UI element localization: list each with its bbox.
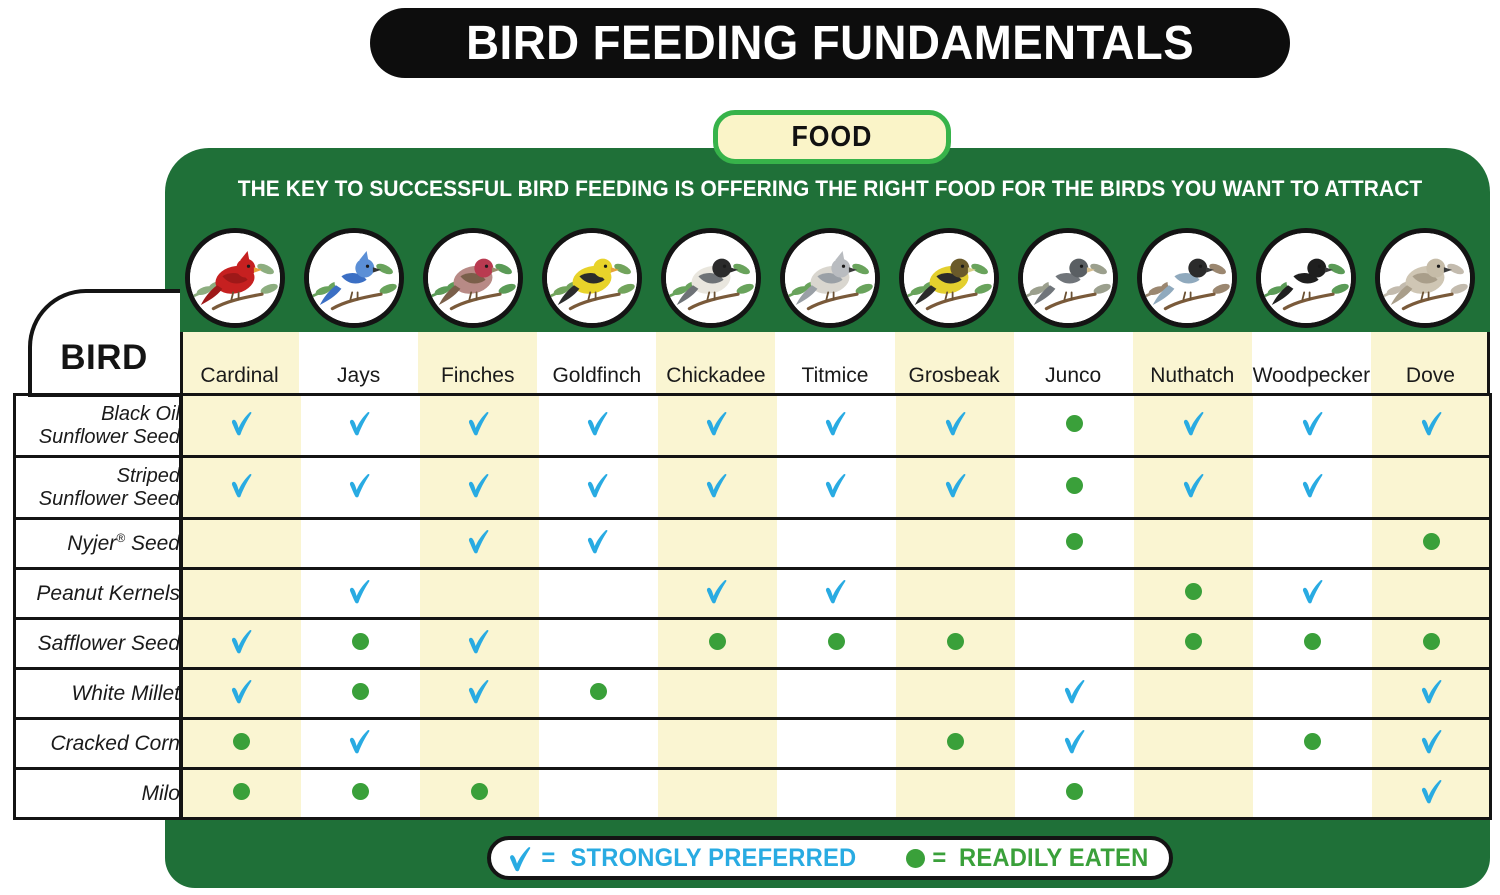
column-header-grosbeak: Grosbeak bbox=[895, 332, 1014, 394]
legend-equals-dot: = bbox=[932, 844, 946, 873]
cell-chickadee-check bbox=[658, 457, 777, 519]
cell-junco-empty bbox=[1015, 619, 1134, 669]
dot-icon bbox=[1066, 783, 1083, 800]
check-icon bbox=[585, 471, 611, 499]
dot-icon bbox=[828, 633, 845, 650]
cell-jays-check bbox=[301, 719, 420, 769]
grosbeak-bird-icon bbox=[899, 228, 999, 328]
food-badge-label: FOOD bbox=[792, 121, 873, 154]
dot-icon bbox=[1066, 533, 1083, 550]
dot-icon bbox=[906, 849, 925, 868]
cell-junco-dot bbox=[1015, 395, 1134, 457]
dot-icon bbox=[947, 633, 964, 650]
feeding-matrix: Black OilSunflower SeedStripedSunflower … bbox=[13, 393, 1490, 820]
cell-finches-check bbox=[420, 395, 539, 457]
dove-bird-icon bbox=[1375, 228, 1475, 328]
cell-cardinal-empty bbox=[182, 519, 301, 569]
cell-jays-check bbox=[301, 395, 420, 457]
cell-goldfinch-check bbox=[539, 519, 658, 569]
table-row: Safflower Seed bbox=[15, 619, 1492, 669]
cell-dove-check bbox=[1372, 719, 1491, 769]
cardinal-bird-icon bbox=[185, 228, 285, 328]
check-icon bbox=[1181, 409, 1207, 437]
dot-icon bbox=[471, 783, 488, 800]
cell-cardinal-dot bbox=[182, 719, 301, 769]
column-header-cardinal: Cardinal bbox=[180, 332, 299, 394]
dot-icon bbox=[1185, 633, 1202, 650]
check-icon bbox=[1419, 409, 1445, 437]
dot-icon bbox=[1423, 633, 1440, 650]
row-label-peanut-kernels: Peanut Kernels bbox=[15, 569, 182, 619]
table-row: White Millet bbox=[15, 669, 1492, 719]
check-icon bbox=[704, 577, 730, 605]
cell-nuthatch-empty bbox=[1134, 719, 1253, 769]
dot-icon bbox=[1066, 477, 1083, 494]
cell-goldfinch-empty bbox=[539, 619, 658, 669]
column-header-label: Chickadee bbox=[666, 364, 765, 388]
cell-junco-dot bbox=[1015, 769, 1134, 819]
cell-finches-check bbox=[420, 619, 539, 669]
check-icon bbox=[1419, 727, 1445, 755]
cell-goldfinch-empty bbox=[539, 769, 658, 819]
cell-woodpecker-check bbox=[1253, 569, 1372, 619]
check-icon bbox=[347, 471, 373, 499]
cell-titmice-dot bbox=[777, 619, 896, 669]
check-icon bbox=[704, 471, 730, 499]
check-icon bbox=[1300, 409, 1326, 437]
cell-nuthatch-dot bbox=[1134, 569, 1253, 619]
check-icon bbox=[823, 471, 849, 499]
cell-titmice-check bbox=[777, 395, 896, 457]
dot-icon bbox=[352, 683, 369, 700]
column-header-label: Finches bbox=[441, 364, 515, 388]
cell-finches-check bbox=[420, 519, 539, 569]
cell-chickadee-check bbox=[658, 395, 777, 457]
cell-junco-dot bbox=[1015, 457, 1134, 519]
cell-grosbeak-empty bbox=[896, 769, 1015, 819]
cell-chickadee-check bbox=[658, 569, 777, 619]
table-row: Peanut Kernels bbox=[15, 569, 1492, 619]
bird-axis-underline bbox=[28, 393, 180, 397]
cell-cardinal-check bbox=[182, 395, 301, 457]
column-header-titmice: Titmice bbox=[775, 332, 894, 394]
column-header-junco: Junco bbox=[1014, 332, 1133, 394]
check-icon bbox=[229, 627, 255, 655]
cell-chickadee-empty bbox=[658, 519, 777, 569]
check-icon bbox=[1300, 471, 1326, 499]
cell-woodpecker-empty bbox=[1253, 519, 1372, 569]
check-icon bbox=[466, 677, 492, 705]
cell-chickadee-empty bbox=[658, 719, 777, 769]
cell-dove-check bbox=[1372, 769, 1491, 819]
cell-dove-check bbox=[1372, 669, 1491, 719]
dot-icon bbox=[233, 733, 250, 750]
check-icon bbox=[1419, 777, 1445, 805]
dot-icon bbox=[947, 733, 964, 750]
cell-grosbeak-empty bbox=[896, 569, 1015, 619]
cell-jays-dot bbox=[301, 619, 420, 669]
check-icon bbox=[507, 844, 534, 873]
cell-woodpecker-check bbox=[1253, 457, 1372, 519]
cell-dove-dot bbox=[1372, 619, 1491, 669]
table-row: Black OilSunflower Seed bbox=[15, 395, 1492, 457]
check-icon bbox=[466, 627, 492, 655]
row-label-milo: Milo bbox=[15, 769, 182, 819]
row-label-white-millet: White Millet bbox=[15, 669, 182, 719]
cell-jays-dot bbox=[301, 769, 420, 819]
check-icon bbox=[585, 527, 611, 555]
dot-icon bbox=[352, 633, 369, 650]
check-icon bbox=[347, 577, 373, 605]
check-icon bbox=[943, 409, 969, 437]
cell-goldfinch-empty bbox=[539, 719, 658, 769]
cell-titmice-check bbox=[777, 569, 896, 619]
cell-finches-check bbox=[420, 669, 539, 719]
check-icon bbox=[823, 577, 849, 605]
cell-goldfinch-dot bbox=[539, 669, 658, 719]
cell-grosbeak-check bbox=[896, 395, 1015, 457]
table-row: Milo bbox=[15, 769, 1492, 819]
legend-label-preferred: STRONGLY PREFERRED bbox=[570, 844, 856, 873]
check-icon bbox=[1062, 677, 1088, 705]
column-header-jays: Jays bbox=[299, 332, 418, 394]
check-icon bbox=[943, 471, 969, 499]
dot-icon bbox=[709, 633, 726, 650]
check-icon bbox=[229, 471, 255, 499]
cell-cardinal-check bbox=[182, 457, 301, 519]
cell-woodpecker-check bbox=[1253, 395, 1372, 457]
check-icon bbox=[347, 727, 373, 755]
cell-jays-empty bbox=[301, 519, 420, 569]
cell-dove-empty bbox=[1372, 457, 1491, 519]
check-icon bbox=[585, 409, 611, 437]
dot-icon bbox=[1066, 415, 1083, 432]
cell-goldfinch-check bbox=[539, 457, 658, 519]
cell-cardinal-check bbox=[182, 669, 301, 719]
check-icon bbox=[704, 409, 730, 437]
row-label-safflower-seed: Safflower Seed bbox=[15, 619, 182, 669]
check-icon bbox=[347, 409, 373, 437]
food-badge: FOOD bbox=[713, 110, 951, 164]
titmouse-bird-icon bbox=[780, 228, 880, 328]
junco-bird-icon bbox=[1018, 228, 1118, 328]
legend-item-preferred: = STRONGLY PREFERRED bbox=[507, 844, 864, 873]
bird-axis-box bbox=[28, 289, 180, 397]
cell-jays-check bbox=[301, 569, 420, 619]
nuthatch-bird-icon bbox=[1137, 228, 1237, 328]
cell-woodpecker-empty bbox=[1253, 669, 1372, 719]
subtitle-text: THE KEY TO SUCCESSFUL BIRD FEEDING IS OF… bbox=[221, 176, 1439, 202]
row-label-cracked-corn: Cracked Corn bbox=[15, 719, 182, 769]
dot-icon bbox=[1304, 633, 1321, 650]
cell-junco-check bbox=[1015, 669, 1134, 719]
legend-label-readily-eaten: READILY EATEN bbox=[959, 844, 1148, 873]
table-row: StripedSunflower Seed bbox=[15, 457, 1492, 519]
cell-junco-empty bbox=[1015, 569, 1134, 619]
column-header-label: Goldfinch bbox=[552, 364, 641, 388]
cell-jays-dot bbox=[301, 669, 420, 719]
column-header-dove: Dove bbox=[1371, 332, 1490, 394]
row-label-striped-sunflower-seed: StripedSunflower Seed bbox=[15, 457, 182, 519]
cell-dove-dot bbox=[1372, 519, 1491, 569]
woodpecker-bird-icon bbox=[1256, 228, 1356, 328]
cell-grosbeak-check bbox=[896, 457, 1015, 519]
check-icon bbox=[466, 471, 492, 499]
cell-goldfinch-empty bbox=[539, 569, 658, 619]
column-header-label: Jays bbox=[337, 364, 380, 388]
cell-cardinal-check bbox=[182, 619, 301, 669]
cell-goldfinch-check bbox=[539, 395, 658, 457]
column-header-strip: CardinalJaysFinchesGoldfinchChickadeeTit… bbox=[13, 332, 1490, 394]
cell-junco-dot bbox=[1015, 519, 1134, 569]
chickadee-bird-icon bbox=[661, 228, 761, 328]
cell-nuthatch-empty bbox=[1134, 769, 1253, 819]
cell-titmice-check bbox=[777, 457, 896, 519]
cell-nuthatch-check bbox=[1134, 395, 1253, 457]
cell-titmice-empty bbox=[777, 769, 896, 819]
cell-titmice-empty bbox=[777, 669, 896, 719]
dot-icon bbox=[1423, 533, 1440, 550]
column-header-label: Titmice bbox=[802, 364, 869, 388]
column-header-finches: Finches bbox=[418, 332, 537, 394]
cell-woodpecker-dot bbox=[1253, 619, 1372, 669]
check-icon bbox=[229, 677, 255, 705]
cell-titmice-empty bbox=[777, 719, 896, 769]
check-icon bbox=[1300, 577, 1326, 605]
cell-finches-empty bbox=[420, 719, 539, 769]
column-header-label: Grosbeak bbox=[909, 364, 1000, 388]
table-row: Cracked Corn bbox=[15, 719, 1492, 769]
row-label-black-oil-sunflower-seed: Black OilSunflower Seed bbox=[15, 395, 182, 457]
cell-finches-dot bbox=[420, 769, 539, 819]
cell-grosbeak-dot bbox=[896, 719, 1015, 769]
table-row: Nyjer® Seed bbox=[15, 519, 1492, 569]
goldfinch-bird-icon bbox=[542, 228, 642, 328]
infographic-root: BIRD FEEDING FUNDAMENTALS FOOD THE KEY T… bbox=[0, 0, 1500, 895]
cell-nuthatch-dot bbox=[1134, 619, 1253, 669]
column-header-chickadee: Chickadee bbox=[656, 332, 775, 394]
check-icon bbox=[1419, 677, 1445, 705]
column-header-label: Junco bbox=[1045, 364, 1101, 388]
cell-chickadee-dot bbox=[658, 619, 777, 669]
cell-grosbeak-empty bbox=[896, 519, 1015, 569]
check-icon bbox=[823, 409, 849, 437]
cell-finches-check bbox=[420, 457, 539, 519]
column-header-goldfinch: Goldfinch bbox=[537, 332, 656, 394]
cell-woodpecker-dot bbox=[1253, 719, 1372, 769]
cell-nuthatch-check bbox=[1134, 457, 1253, 519]
cell-nuthatch-empty bbox=[1134, 519, 1253, 569]
cell-grosbeak-dot bbox=[896, 619, 1015, 669]
cell-grosbeak-empty bbox=[896, 669, 1015, 719]
column-header-nuthatch: Nuthatch bbox=[1133, 332, 1252, 394]
legend-equals-check: = bbox=[541, 844, 555, 873]
cell-titmice-empty bbox=[777, 519, 896, 569]
check-icon bbox=[1181, 471, 1207, 499]
cell-nuthatch-empty bbox=[1134, 669, 1253, 719]
page-title: BIRD FEEDING FUNDAMENTALS bbox=[466, 16, 1194, 71]
column-header-woodpecker: Woodpecker bbox=[1252, 332, 1371, 394]
dot-icon bbox=[352, 783, 369, 800]
dot-icon bbox=[233, 783, 250, 800]
cell-jays-check bbox=[301, 457, 420, 519]
legend: = STRONGLY PREFERRED = READILY EATEN bbox=[487, 836, 1173, 880]
cell-woodpecker-empty bbox=[1253, 769, 1372, 819]
cell-cardinal-dot bbox=[182, 769, 301, 819]
check-icon bbox=[1062, 727, 1088, 755]
house-finch-bird-icon bbox=[423, 228, 523, 328]
column-header-label: Nuthatch bbox=[1150, 364, 1234, 388]
cell-junco-check bbox=[1015, 719, 1134, 769]
title-banner: BIRD FEEDING FUNDAMENTALS bbox=[370, 8, 1290, 78]
column-header-label: Woodpecker bbox=[1253, 364, 1371, 388]
check-icon bbox=[229, 409, 255, 437]
dot-icon bbox=[1185, 583, 1202, 600]
check-icon bbox=[466, 409, 492, 437]
row-label-nyjer-seed: Nyjer® Seed bbox=[15, 519, 182, 569]
cell-dove-empty bbox=[1372, 569, 1491, 619]
cell-chickadee-empty bbox=[658, 669, 777, 719]
dot-icon bbox=[1304, 733, 1321, 750]
column-header-label: Dove bbox=[1406, 364, 1455, 388]
blue-jay-bird-icon bbox=[304, 228, 404, 328]
dot-icon bbox=[590, 683, 607, 700]
check-icon bbox=[466, 527, 492, 555]
cell-cardinal-empty bbox=[182, 569, 301, 619]
cell-dove-check bbox=[1372, 395, 1491, 457]
legend-item-readily-eaten: = READILY EATEN bbox=[906, 844, 1153, 873]
cell-chickadee-empty bbox=[658, 769, 777, 819]
column-header-label: Cardinal bbox=[200, 364, 278, 388]
cell-finches-empty bbox=[420, 569, 539, 619]
